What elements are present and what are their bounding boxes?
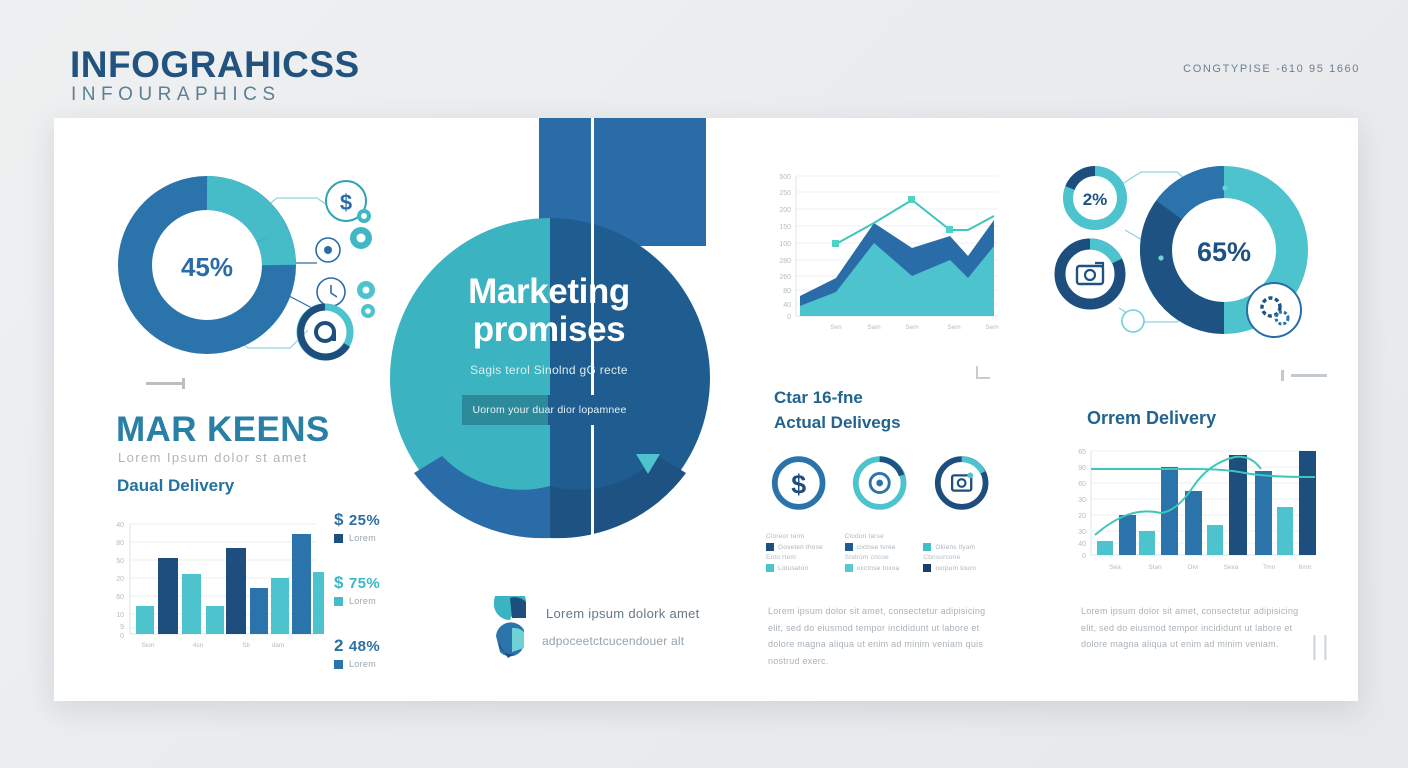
column-three: 500 250 200 150 100 280 260 80 40 0 (754, 118, 1034, 701)
legend-top-label: Cbnsurcone (923, 554, 996, 562)
hero-section: Marketing promises Sagis terol Sinolnd ɡ… (384, 118, 744, 701)
donut-chart-65: 65% 2% (1049, 158, 1339, 363)
legend-label: oxrpum tourn (935, 565, 976, 572)
legend-swatch (334, 597, 343, 606)
brand-logo-icon (490, 596, 534, 658)
legend-item: Cbnsurcone oxrpum tourn (923, 554, 996, 572)
svg-text:$: $ (791, 470, 806, 500)
svg-text:Sem: Sem (947, 324, 960, 331)
clock-icon (317, 278, 345, 306)
column-one-title: MAR KEENS (116, 410, 330, 450)
svg-text:250: 250 (779, 190, 791, 197)
infographic-page: INFOGRAHICSS INFOURAPHICS CONGTYPISE -61… (0, 0, 1408, 768)
legend-item: Clodon tarse cixtnse tvree (845, 533, 918, 551)
svg-text:0: 0 (1082, 553, 1086, 560)
svg-text:9: 9 (120, 624, 124, 631)
hero-heading-line1: Marketing (414, 273, 684, 311)
svg-text:80: 80 (116, 540, 124, 547)
svg-text:Stan: Stan (1148, 564, 1162, 571)
legend-swatch (334, 660, 343, 669)
at-icon (300, 307, 350, 357)
legend-top-label: Clodon tarse (845, 533, 918, 541)
hero-footer-line1: Lorem ipsum dolork amet (546, 606, 700, 621)
column-three-heading: Ctar 16-fne Actual Delivegs (774, 386, 901, 435)
svg-text:500: 500 (779, 174, 791, 181)
svg-text:40: 40 (1078, 541, 1086, 548)
hero-subtext: Sagis terol Sinolnd ɡG recte (414, 363, 684, 377)
section-divider-right (1281, 370, 1327, 381)
column-three-icon-row: $ (770, 453, 990, 515)
svg-text:200: 200 (779, 207, 791, 214)
legend-top-label: Ento rtem (766, 554, 839, 562)
svg-text:30: 30 (1078, 497, 1086, 504)
legend-label: oxctnse toxoa (857, 565, 900, 572)
svg-text:80: 80 (783, 288, 791, 295)
column-one: 45% $ (84, 118, 414, 701)
svg-text:6mn: 6mn (1299, 564, 1312, 571)
bar-line-chart-orrem-delivery: 65 90 60 30 20 30 40 0 (1065, 443, 1325, 578)
legend-swatch (766, 543, 774, 551)
svg-text:$: $ (340, 190, 352, 215)
hero-text-block: Marketing promises Sagis terol Sinolnd ɡ… (414, 273, 684, 377)
svg-text:Olvi: Olvi (1187, 564, 1198, 571)
svg-text:30: 30 (1078, 529, 1086, 536)
hero-circle-graphic (384, 218, 716, 550)
legend-label: Lorem (349, 596, 376, 606)
dollar-circle-icon: $ (770, 453, 827, 513)
column-four-paragraph: Lorem ipsum dolor sit amet, consectetur … (1081, 603, 1313, 653)
legend-swatch (766, 564, 774, 572)
svg-text:2%: 2% (1083, 190, 1108, 209)
svg-text:7mn: 7mn (1263, 564, 1276, 571)
svg-text:20: 20 (1078, 513, 1086, 520)
svg-text:40: 40 (783, 302, 791, 309)
column-three-heading-line1: Ctar 16-fne (774, 386, 901, 411)
svg-text:dam: dam (272, 642, 285, 649)
section-divider-left (146, 378, 192, 388)
gear-icon (1247, 283, 1301, 337)
legend-swatch (845, 543, 853, 551)
svg-text:4sn: 4sn (193, 642, 204, 649)
hero-heading-line2: promises (414, 311, 684, 349)
gear-icon (350, 209, 375, 318)
page-subtitle: INFOURAPHICS (71, 84, 281, 106)
svg-text:60: 60 (116, 594, 124, 601)
svg-text:280: 280 (779, 258, 791, 265)
legend-label: Lotusaton (778, 565, 808, 572)
legend-swatch (923, 564, 931, 572)
legend-top-label: Sndrom cncoe (845, 554, 918, 562)
column-three-heading-line2: Actual Delivegs (774, 411, 901, 436)
donut-chart-45: 45% $ (112, 158, 382, 373)
svg-text:65: 65 (1078, 449, 1086, 456)
camera-icon (1060, 244, 1120, 304)
svg-text:50: 50 (116, 558, 124, 565)
donut-center-label-65: 65% (1197, 237, 1251, 267)
legend-value: 25% (349, 512, 380, 529)
legend-label: cixtnse tvree (857, 544, 896, 551)
svg-text:100: 100 (779, 241, 791, 248)
svg-text:150: 150 (779, 224, 791, 231)
photo-circle-icon (933, 453, 990, 513)
svg-text:40: 40 (116, 522, 124, 529)
legend-item: Okiens ityam (923, 533, 996, 551)
svg-text:10: 10 (116, 612, 124, 619)
target-circle-icon (851, 453, 908, 513)
legend-label: Okiens ityam (935, 544, 975, 551)
legend-swatch (923, 543, 931, 551)
column-four-heading: Orrem Delivery (1087, 408, 1216, 429)
legend-item: Cloreor term Goveten those (766, 533, 839, 551)
svg-text:Sem: Sem (905, 324, 918, 331)
legend-swatch (334, 534, 343, 543)
header-meta: CONGTYPISE -610 95 1660 (1183, 63, 1360, 75)
legend-item: Ento rtem Lotusaton (766, 554, 839, 572)
column-four: 65% 2% (1029, 118, 1358, 701)
svg-text:Sea: Sea (1109, 564, 1121, 571)
legend-item: Sndrom cncoe oxctnse toxoa (845, 554, 918, 572)
svg-text:20: 20 (116, 576, 124, 583)
legend-label: Goveten those (778, 544, 823, 551)
svg-text:Sion: Sion (141, 642, 154, 649)
legend-label: Lorem (349, 659, 376, 669)
svg-text:Sem: Sem (985, 324, 998, 331)
hero-footer-line2: adpoceetctcucendouer alt (542, 632, 722, 650)
legend-label: Lorem (349, 533, 376, 543)
svg-text:260: 260 (779, 274, 791, 281)
column-one-subtitle: Lorem Ipsum dolor st amet (118, 450, 308, 465)
svg-text:0: 0 (787, 314, 791, 321)
area-chart-deliveries: 500 250 200 150 100 280 260 80 40 0 (766, 168, 1006, 338)
bar-chart-daual-delivery: 40 80 50 20 60 10 9 0 (102, 516, 324, 656)
donut-small-2: 2% (1068, 171, 1122, 225)
legend-symbol: $ (334, 573, 344, 593)
hero-cta-button[interactable]: Uorom your duar dior lopamnee (462, 395, 637, 425)
donut-center-label: 45% (181, 252, 233, 282)
legend-top-label (923, 533, 996, 541)
svg-text:Sam: Sam (867, 324, 880, 331)
legend-top-label: Cloreor term (766, 533, 839, 541)
section-divider-mid (976, 366, 990, 380)
corner-mark: ⎮⎮ (1309, 636, 1331, 661)
svg-text:90: 90 (1078, 465, 1086, 472)
legend-value: 48% (349, 638, 380, 655)
svg-text:60: 60 (1078, 481, 1086, 488)
column-three-legend: Cloreor term Goveten those Clodon tarse … (766, 533, 996, 572)
column-three-paragraph: Lorem ipsum dolor sit amet, consectetur … (768, 603, 996, 670)
page-title: INFOGRAHICSS (70, 44, 360, 86)
legend-value: 75% (349, 575, 380, 592)
column-one-heading: Daual Delivery (117, 476, 234, 496)
legend-symbol: $ (334, 510, 344, 530)
legend-swatch (845, 564, 853, 572)
legend-symbol: 2 (334, 636, 344, 656)
svg-text:Sti: Sti (242, 642, 250, 649)
svg-text:Sexa: Sexa (1224, 564, 1239, 571)
target-icon (316, 238, 340, 262)
svg-text:0: 0 (120, 633, 124, 640)
svg-text:Sen: Sen (830, 324, 842, 331)
infographic-card: 45% $ (54, 118, 1358, 701)
